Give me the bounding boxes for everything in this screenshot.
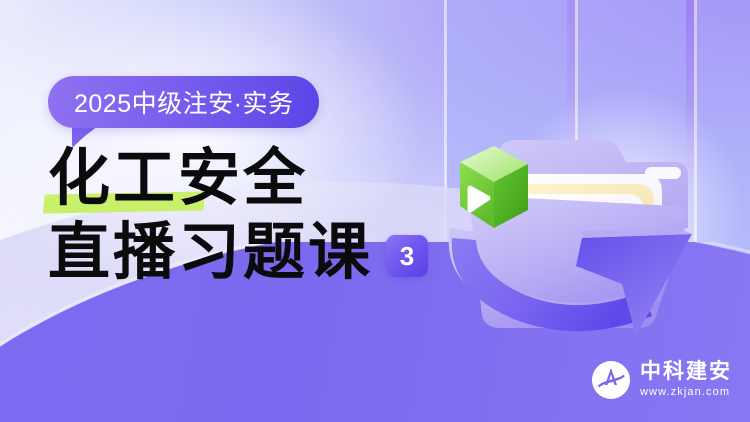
brand-text-block: 中科建安 www.zkjan.com <box>640 360 732 399</box>
brand-website: www.zkjan.com <box>640 386 732 399</box>
course-category-badge: 2025中级注安·实务 <box>48 76 319 128</box>
course-illustration <box>430 88 730 338</box>
headline-line-1: 化工安全 <box>48 148 428 210</box>
brand-emblem-icon <box>591 360 631 400</box>
episode-number-badge: 3 <box>386 235 428 277</box>
headline-block: 化工安全 直播习题课 3 <box>48 148 428 284</box>
course-promo-banner: 2025中级注安·实务 化工安全 直播习题课 3 中科建安 www.zkjan.… <box>0 0 750 422</box>
folder-arrow-cube-illustration <box>430 88 730 338</box>
headline-line-2: 直播习题课 3 <box>48 222 428 284</box>
course-category-label: 2025中级注安·实务 <box>74 84 293 120</box>
course-title-line-1: 化工安全 <box>48 148 308 210</box>
brand-name: 中科建安 <box>640 360 732 384</box>
course-title-line-2: 直播习题课 <box>48 222 373 284</box>
brand-logo: 中科建安 www.zkjan.com <box>591 360 732 400</box>
